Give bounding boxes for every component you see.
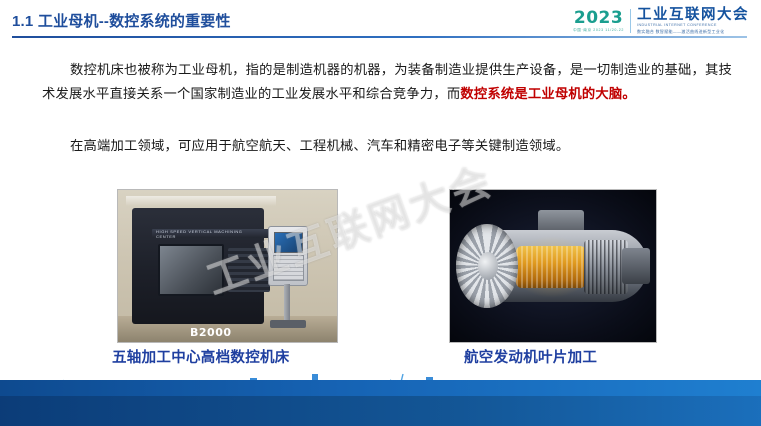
cnc-model-label: B2000 (190, 326, 232, 339)
engine-nozzle (622, 248, 650, 284)
footer-decoration (0, 368, 761, 426)
paragraph-one: 数控机床也被称为工业母机，指的是制造机器的机器，为装备制造业提供生产设备，是一切… (42, 58, 732, 106)
title-label: 工业母机--数控系统的重要性 (38, 13, 231, 30)
logo-year-block: 2023 中国·南京 2023 11/20-22 (573, 10, 624, 33)
logo-year-text: 2023 (574, 10, 623, 27)
cnc-vent (228, 248, 270, 292)
slide-root: 1.1 工业母机--数控系统的重要性 2023 中国·南京 2023 11/20… (0, 0, 761, 426)
logo-name-block: 工业互联网大会 INDUSTRIAL INTERNET CONFERENCE 数… (637, 8, 749, 34)
cnc-panel-keypad (273, 255, 304, 281)
image-jet-engine (449, 189, 657, 343)
title-underline-rule (12, 36, 747, 38)
cnc-brand-text: HIGH SPEED VERTICAL MACHINING CENTER (156, 229, 264, 239)
title-number: 1.1 (12, 13, 33, 30)
cnc-panel-base (270, 320, 306, 328)
engine-combustor (516, 246, 586, 288)
logo-tagline: 数实融合 数智赋能——激活曲线迸新型工业化 (637, 30, 749, 34)
slide-title: 1.1 工业母机--数控系统的重要性 (12, 10, 332, 36)
logo-name-cn: 工业互联网大会 (637, 8, 749, 23)
logo-name-en: INDUSTRIAL INTERNET CONFERENCE (637, 24, 749, 28)
paragraph-one-highlight: 数控系统是工业母机的大脑。 (460, 86, 635, 101)
caption-cnc-machine: 五轴加工中心高档数控机床 (112, 346, 290, 367)
cnc-control-panel (268, 226, 308, 286)
paragraph-two: 在高端加工领域，可应用于航空航天、工程机械、汽车和精密电子等关键制造领域。 (42, 134, 732, 158)
cnc-panel-screen (274, 232, 303, 253)
image-cnc-machine: HIGH SPEED VERTICAL MACHINING CENTER B20… (117, 189, 338, 343)
cnc-window (158, 244, 224, 296)
cnc-panel-stand (284, 284, 290, 324)
logo-year-subtext: 中国·南京 2023 11/20-22 (573, 29, 624, 33)
engine-combustor-blades (516, 246, 586, 288)
conference-logo: 2023 中国·南京 2023 11/20-22 工业互联网大会 INDUSTR… (573, 6, 749, 36)
cnc-ceiling-light (126, 196, 276, 206)
caption-jet-engine: 航空发动机叶片加工 (464, 346, 597, 367)
cnc-machine-body: HIGH SPEED VERTICAL MACHINING CENTER B20… (132, 208, 264, 324)
footer-wave-lower (0, 396, 761, 426)
engine-spinner-hub (478, 252, 498, 280)
logo-divider (630, 9, 631, 33)
